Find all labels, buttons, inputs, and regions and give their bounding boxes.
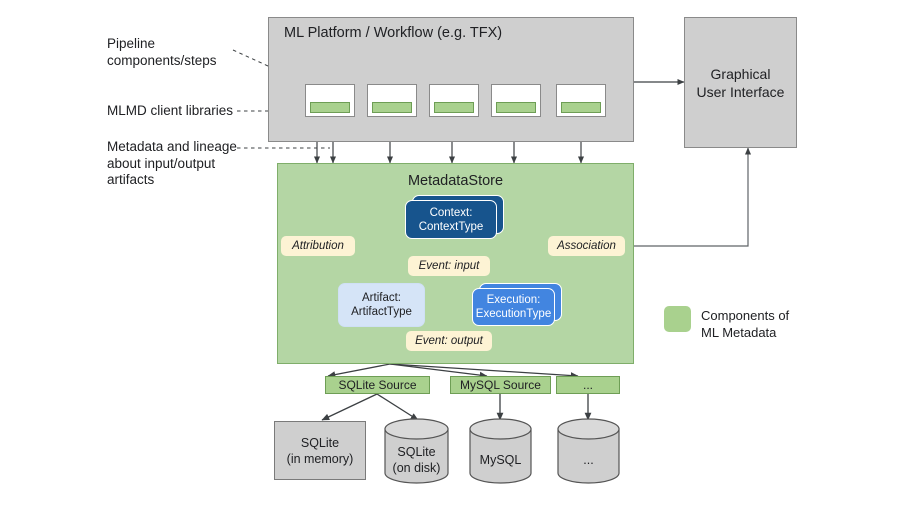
entity-execution-label: Execution: ExecutionType [472, 288, 555, 326]
store-other[interactable]: ... [557, 418, 620, 484]
entity-context-label: Context: ContextType [405, 200, 497, 239]
graphical-user-interface-box[interactable]: Graphical User Interface [684, 17, 797, 148]
entity-artifact-label: Artifact: ArtifactType [338, 283, 425, 327]
relation-event-output[interactable]: Event: output [406, 331, 492, 351]
legend-color-swatch [664, 306, 691, 332]
ml-platform-title: ML Platform / Workflow (e.g. TFX) [284, 25, 502, 41]
cylinder-shape [557, 418, 620, 484]
legend-label: Components of ML Metadata [701, 308, 831, 341]
annotation-mlmd-client-libraries: MLMD client libraries [107, 103, 247, 120]
entity-context[interactable]: Context: ContextType [405, 200, 504, 239]
source-other[interactable]: ... [556, 376, 620, 394]
mlmd-client-library-5[interactable] [561, 102, 601, 113]
relation-attribution[interactable]: Attribution [281, 236, 355, 256]
store-sqlite-in-memory[interactable]: SQLite (in memory) [274, 421, 366, 480]
mlmd-client-library-4[interactable] [496, 102, 536, 113]
mlmd-client-library-1[interactable] [310, 102, 350, 113]
relation-event-input[interactable]: Event: input [408, 256, 490, 276]
source-mysql[interactable]: MySQL Source [450, 376, 551, 394]
annotation-pipeline-components: Pipeline components/steps [107, 36, 232, 69]
cylinder-shape [384, 418, 449, 484]
store-sqlite-on-disk[interactable]: SQLite (on disk) [384, 418, 449, 484]
metadata-store-title: MetadataStore [277, 173, 634, 189]
entity-execution[interactable]: Execution: ExecutionType [472, 288, 562, 326]
cylinder-shape [469, 418, 532, 484]
entity-artifact[interactable]: Artifact: ArtifactType [338, 283, 425, 327]
annotation-metadata-lineage: Metadata and lineage about input/output … [107, 139, 247, 189]
mlmd-client-library-3[interactable] [434, 102, 474, 113]
relation-association[interactable]: Association [548, 236, 625, 256]
mlmd-client-library-2[interactable] [372, 102, 412, 113]
source-sqlite[interactable]: SQLite Source [325, 376, 430, 394]
diagram-canvas: Pipeline components/steps MLMD client li… [0, 0, 900, 506]
store-mysql[interactable]: MySQL [469, 418, 532, 484]
